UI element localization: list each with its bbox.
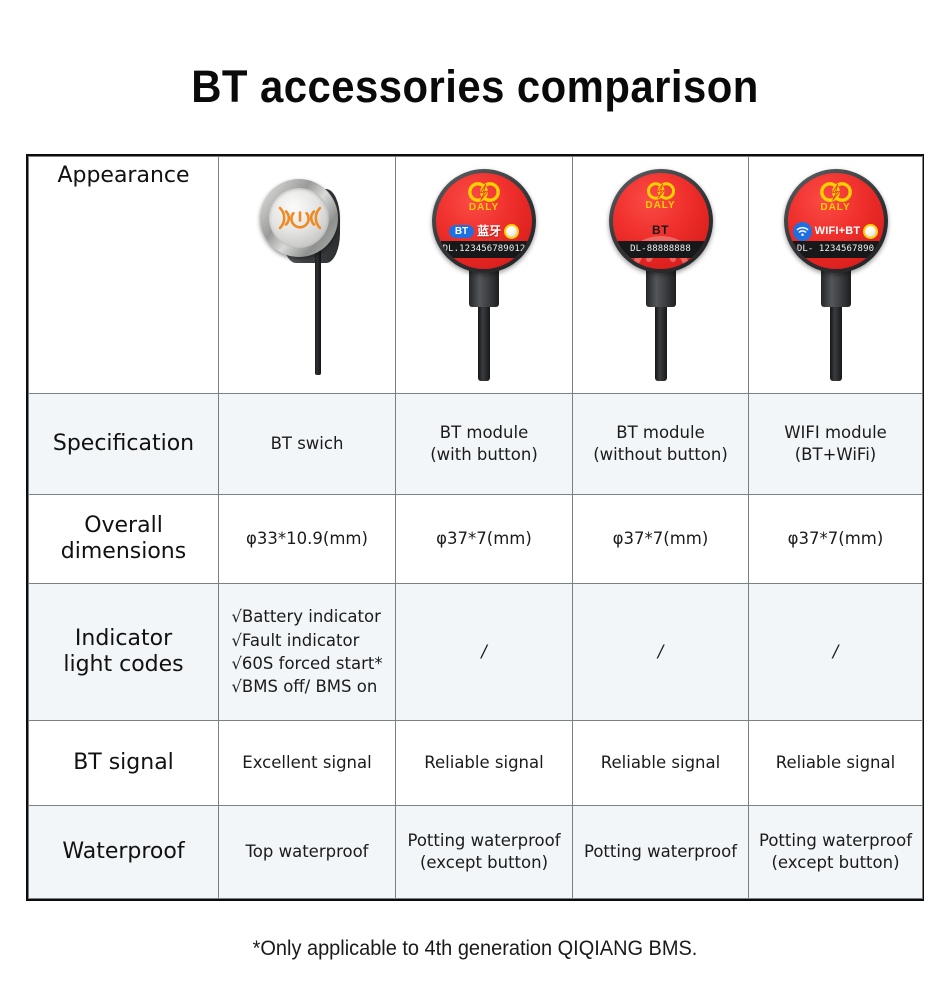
signal-cell-bt-switch: Excellent signal: [219, 721, 396, 806]
waterproof-cell-bt-module-with-button: Potting waterproof (except button): [396, 806, 573, 899]
waterproof-line: Potting waterproof: [579, 841, 742, 863]
waterproof-cell-bt-module-without-button: Potting waterproof: [573, 806, 749, 899]
table-row-waterproof: Waterproof Top waterproof Potting waterp…: [29, 806, 923, 899]
module-face: DALY BT 蓝牙 DL.123456789012: [436, 173, 532, 269]
module-shell: DALY BT DL-88888888: [609, 169, 713, 273]
table-row-specification: Specification BT swich BT module (with b…: [29, 394, 923, 495]
appearance-cell-wifi-module: DALY: [749, 157, 923, 394]
serial-number: DL-88888888: [630, 245, 691, 254]
indicator-cell-wifi-module: /: [749, 584, 923, 721]
signal-cell-bt-module-without-button: Reliable signal: [573, 721, 749, 806]
page-title: BT accessories comparison: [33, 0, 917, 109]
spec-line: BT module: [402, 422, 566, 444]
row-label-appearance: Appearance: [29, 157, 219, 394]
wifi-icon: [793, 222, 812, 241]
daly-wordmark: DALY: [613, 201, 709, 211]
indicator-cell-bt-switch: √Battery indicator √Fault indicator √60S…: [219, 584, 396, 721]
daly-logo-icon: DALY: [613, 182, 709, 211]
indicator-item: √Battery indicator: [231, 605, 382, 628]
indicator-cell-bt-module-without-button: /: [573, 584, 749, 721]
switch-metal-ring: [260, 179, 338, 257]
daly-wordmark: DALY: [788, 203, 884, 213]
dimensions-cell-bt-module-without-button: φ37*7(mm): [573, 495, 749, 584]
bluetooth-chinese-label: 蓝牙: [477, 225, 501, 237]
wifi-bt-label: WIFI+BT: [815, 226, 861, 237]
waterproof-cell-wifi-module: Potting waterproof (except button): [749, 806, 923, 899]
row-label-indicator-light-codes: Indicator light codes: [29, 584, 219, 721]
waterproof-line: Potting waterproof: [402, 830, 566, 852]
waterproof-line: (except button): [402, 852, 566, 874]
row-label-line: Overall: [33, 513, 214, 539]
waterproof-cell-bt-switch: Top waterproof: [219, 806, 396, 899]
serial-label-strip: DL-88888888: [616, 241, 706, 258]
waterproof-line: (except button): [755, 852, 916, 874]
module-badge-group: WIFI+BT: [788, 220, 884, 242]
appearance-cell-bt-module-without-button: DALY BT DL-88888888: [573, 157, 749, 394]
spec-line: (BT+WiFi): [755, 444, 916, 466]
daly-wordmark: DALY: [436, 203, 532, 213]
module-shell: DALY: [784, 169, 888, 273]
indicator-cell-bt-module-with-button: /: [396, 584, 573, 721]
indicator-item: √Fault indicator: [231, 629, 382, 652]
comparison-table-wrapper: Appearance: [26, 154, 924, 901]
table-row-overall-dimensions: Overall dimensions φ33*10.9(mm) φ37*7(mm…: [29, 495, 923, 584]
row-label-waterproof: Waterproof: [29, 806, 219, 899]
spec-cell-bt-module-without-button: BT module (without button): [573, 394, 749, 495]
product-image-bt-switch: [252, 175, 362, 375]
product-image-bt-module-with-button: DALY BT 蓝牙 DL.123456789012: [424, 169, 544, 379]
comparison-table: Appearance: [28, 156, 923, 899]
table-row-indicator-light-codes: Indicator light codes √Battery indicator…: [29, 584, 923, 721]
dimensions-cell-bt-module-with-button: φ37*7(mm): [396, 495, 573, 584]
dimensions-cell-bt-switch: φ33*10.9(mm): [219, 495, 396, 584]
power-signal-icon: [269, 203, 329, 233]
serial-label-strip: DL- 1234567890: [791, 241, 881, 258]
serial-label-strip: DL.123456789012: [439, 241, 529, 258]
indicator-item: √BMS off/ BMS on: [231, 675, 382, 698]
appearance-cell-bt-switch: [219, 157, 396, 394]
table-row-appearance: Appearance: [29, 157, 923, 394]
module-push-button[interactable]: [863, 224, 878, 239]
bt-label: BT: [613, 223, 709, 239]
row-label-bt-signal: BT signal: [29, 721, 219, 806]
waterproof-line: Top waterproof: [225, 841, 389, 863]
row-label-specification: Specification: [29, 394, 219, 495]
spec-line: BT swich: [225, 433, 389, 455]
table-row-bt-signal: BT signal Excellent signal Reliable sign…: [29, 721, 923, 806]
spec-line: WIFI module: [755, 422, 916, 444]
footnote: *Only applicable to 4th generation QIQIA…: [24, 937, 927, 961]
module-face: DALY: [788, 173, 884, 269]
module-push-button[interactable]: [504, 224, 519, 239]
bt-badge: BT: [449, 225, 474, 238]
daly-logo-icon: DALY: [788, 182, 884, 213]
daly-logo-icon: DALY: [436, 182, 532, 213]
signal-cell-bt-module-with-button: Reliable signal: [396, 721, 573, 806]
product-image-wifi-module: DALY: [776, 169, 896, 379]
signal-cell-wifi-module: Reliable signal: [749, 721, 923, 806]
serial-number: DL.123456789012: [443, 245, 526, 254]
appearance-cell-bt-module-with-button: DALY BT 蓝牙 DL.123456789012: [396, 157, 573, 394]
module-face: DALY BT DL-88888888: [613, 173, 709, 269]
switch-face: [269, 188, 329, 248]
module-badge-group: BT 蓝牙: [436, 220, 532, 242]
switch-cable: [315, 233, 321, 375]
spec-cell-wifi-module: WIFI module (BT+WiFi): [749, 394, 923, 495]
spec-cell-bt-switch: BT swich: [219, 394, 396, 495]
spec-line: (with button): [402, 444, 566, 466]
module-shell: DALY BT 蓝牙 DL.123456789012: [432, 169, 536, 273]
spec-cell-bt-module-with-button: BT module (with button): [396, 394, 573, 495]
spec-line: BT module: [579, 422, 742, 444]
row-label-overall-dimensions: Overall dimensions: [29, 495, 219, 584]
row-label-line: Indicator: [33, 626, 214, 652]
row-label-line: dimensions: [33, 539, 214, 565]
waterproof-line: Potting waterproof: [755, 830, 916, 852]
dimensions-cell-wifi-module: φ37*7(mm): [749, 495, 923, 584]
product-image-bt-module-without-button: DALY BT DL-88888888: [601, 169, 721, 379]
spec-line: (without button): [579, 444, 742, 466]
row-label-line: light codes: [33, 652, 214, 678]
serial-number: DL- 1234567890: [797, 245, 874, 254]
indicator-item: √60S forced start*: [231, 652, 382, 675]
